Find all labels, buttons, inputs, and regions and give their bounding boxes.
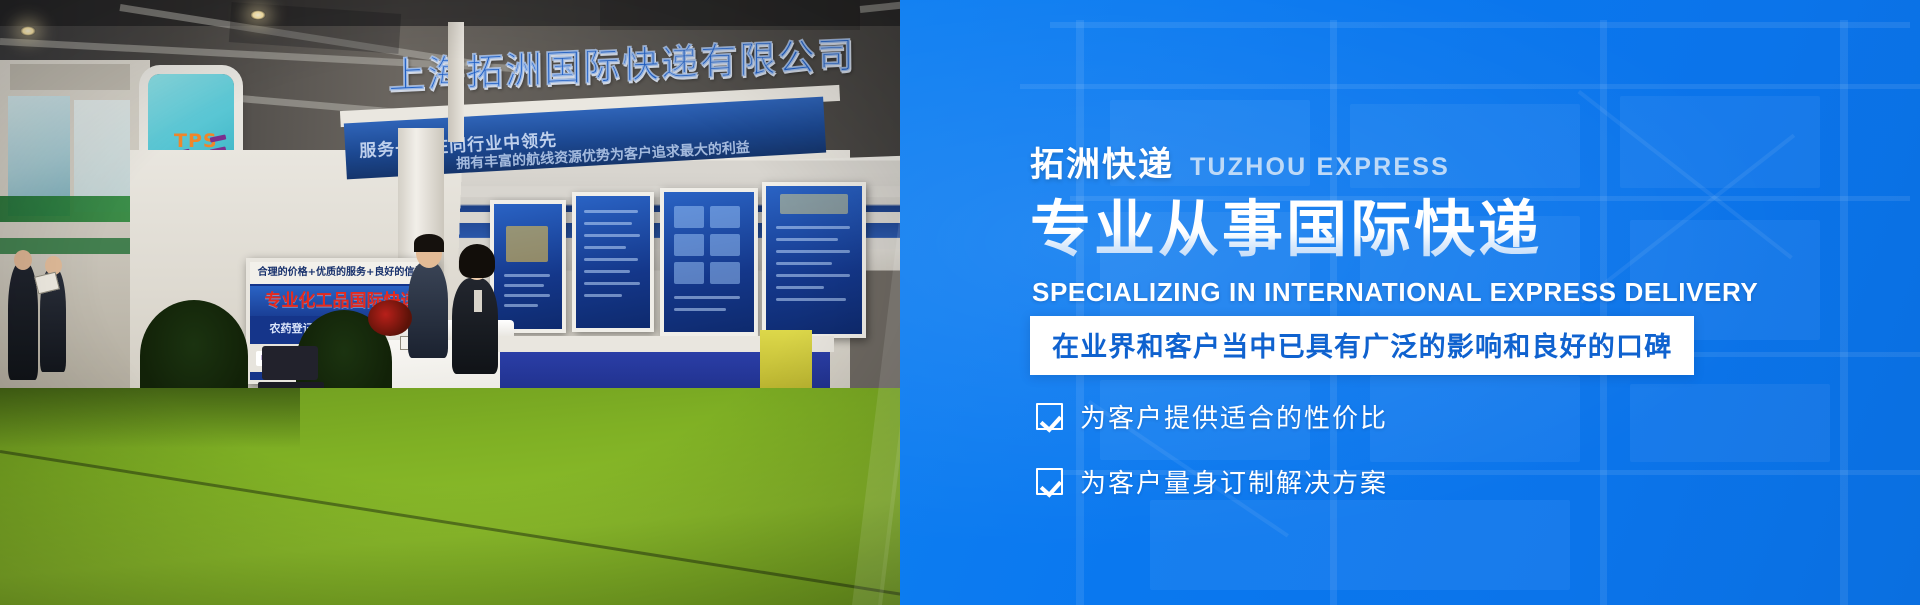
booth-pillar [448,22,464,142]
tradeshow-booth-photo: TPS 服务一直在同行业中领先 拥有丰富的航线资源优势为客户追求最大的利益 上海… [0,0,1000,605]
chair-backrest [262,346,318,380]
booth-board-graphic [710,262,740,284]
feature-bullet-list: 为客户提供适合的性价比 为客户量身订制解决方案 [1036,398,1388,528]
staff-hair [414,234,444,252]
feature-bullet-item: 为客户量身订制解决方案 [1036,463,1388,500]
highlight-statement-text: 在业界和客户当中已具有广泛的影响和良好的口碑 [1052,332,1672,363]
booth-display-board [490,200,566,333]
booth-board-textline [584,234,640,237]
booth-board-textline [584,294,622,297]
booth-yellow-panel [760,330,812,394]
staff-lanyard [474,290,482,312]
checkbox-checked-icon [1036,468,1063,495]
booth-board-textline [504,304,538,307]
booth-board-graphic [710,206,740,228]
flower-arrangement [368,300,412,336]
booth-display-board [572,192,654,332]
neighbour-booth-sign [10,64,130,90]
booth-board-header-graphic [780,194,848,214]
booth-board-graphic [506,226,548,262]
feature-bullet-text: 为客户提供适合的性价比 [1080,398,1388,435]
booth-display-board [762,182,866,338]
neighbour-booth-green-strip [0,196,150,222]
booth-board-textline [674,296,740,299]
promotional-banner: TPS 服务一直在同行业中领先 拥有丰富的航线资源优势为客户追求最大的利益 上海… [0,0,1920,605]
booth-board-textline [584,210,638,213]
booth-board-textline [776,238,838,241]
feature-bullet-item: 为客户提供适合的性价比 [1036,398,1388,435]
booth-board-textline [776,262,832,265]
ceiling-lamp [250,10,266,20]
brand-name-english: TUZHOU EXPRESS [1190,155,1450,182]
booth-display-board-face [576,196,650,328]
banner-headline: 专业从事国际快递 [1030,196,1542,264]
banner-text-content: 拓洲快递 TUZHOU EXPRESS 专业从事国际快递 专业从事国际快递 SP… [1030,0,1890,605]
booth-display-board [660,188,758,336]
staff-figure [408,262,448,358]
feature-bullet-text: 为客户量身订制解决方案 [1080,463,1388,500]
booth-board-graphic [710,234,740,256]
checkbox-checked-icon [1036,403,1063,430]
booth-display-board-face [494,204,562,329]
booth-board-textline [776,286,824,289]
booth-board-textline [504,284,544,287]
booth-board-textline [504,294,550,297]
booth-board-graphic [674,234,704,256]
visitor-figure [8,262,38,380]
floor-shadow [0,388,300,448]
booth-board-textline [674,308,726,311]
ceiling-panel-dark [600,0,860,30]
booth-board-textline [584,246,626,249]
booth-board-textline [776,250,850,253]
brand-row: 拓洲快递 TUZHOU EXPRESS [1030,148,1450,182]
staff-hair [459,244,495,278]
brand-name-chinese: 拓洲快递 [1030,148,1174,182]
booth-board-graphic [674,206,704,228]
booth-board-textline [504,274,550,277]
booth-board-textline [776,274,850,277]
booth-board-textline [584,222,632,225]
booth-board-textline [776,226,850,229]
highlight-statement-bar: 在业界和客户当中已具有广泛的影响和良好的口碑 [1030,316,1694,375]
booth-board-textline [584,258,638,261]
banner-subheadline-english: SPECIALIZING IN INTERNATIONAL EXPRESS DE… [1032,277,1758,308]
info-board-tagline: 合理的价格+优质的服务+良好的信誉 [250,262,432,284]
booth-board-textline [584,282,640,285]
visitor-head [14,250,32,270]
ceiling-lamp [20,26,36,36]
booth-board-graphic [674,262,704,284]
booth-board-textline [584,270,630,273]
booth-board-textline [776,298,846,301]
